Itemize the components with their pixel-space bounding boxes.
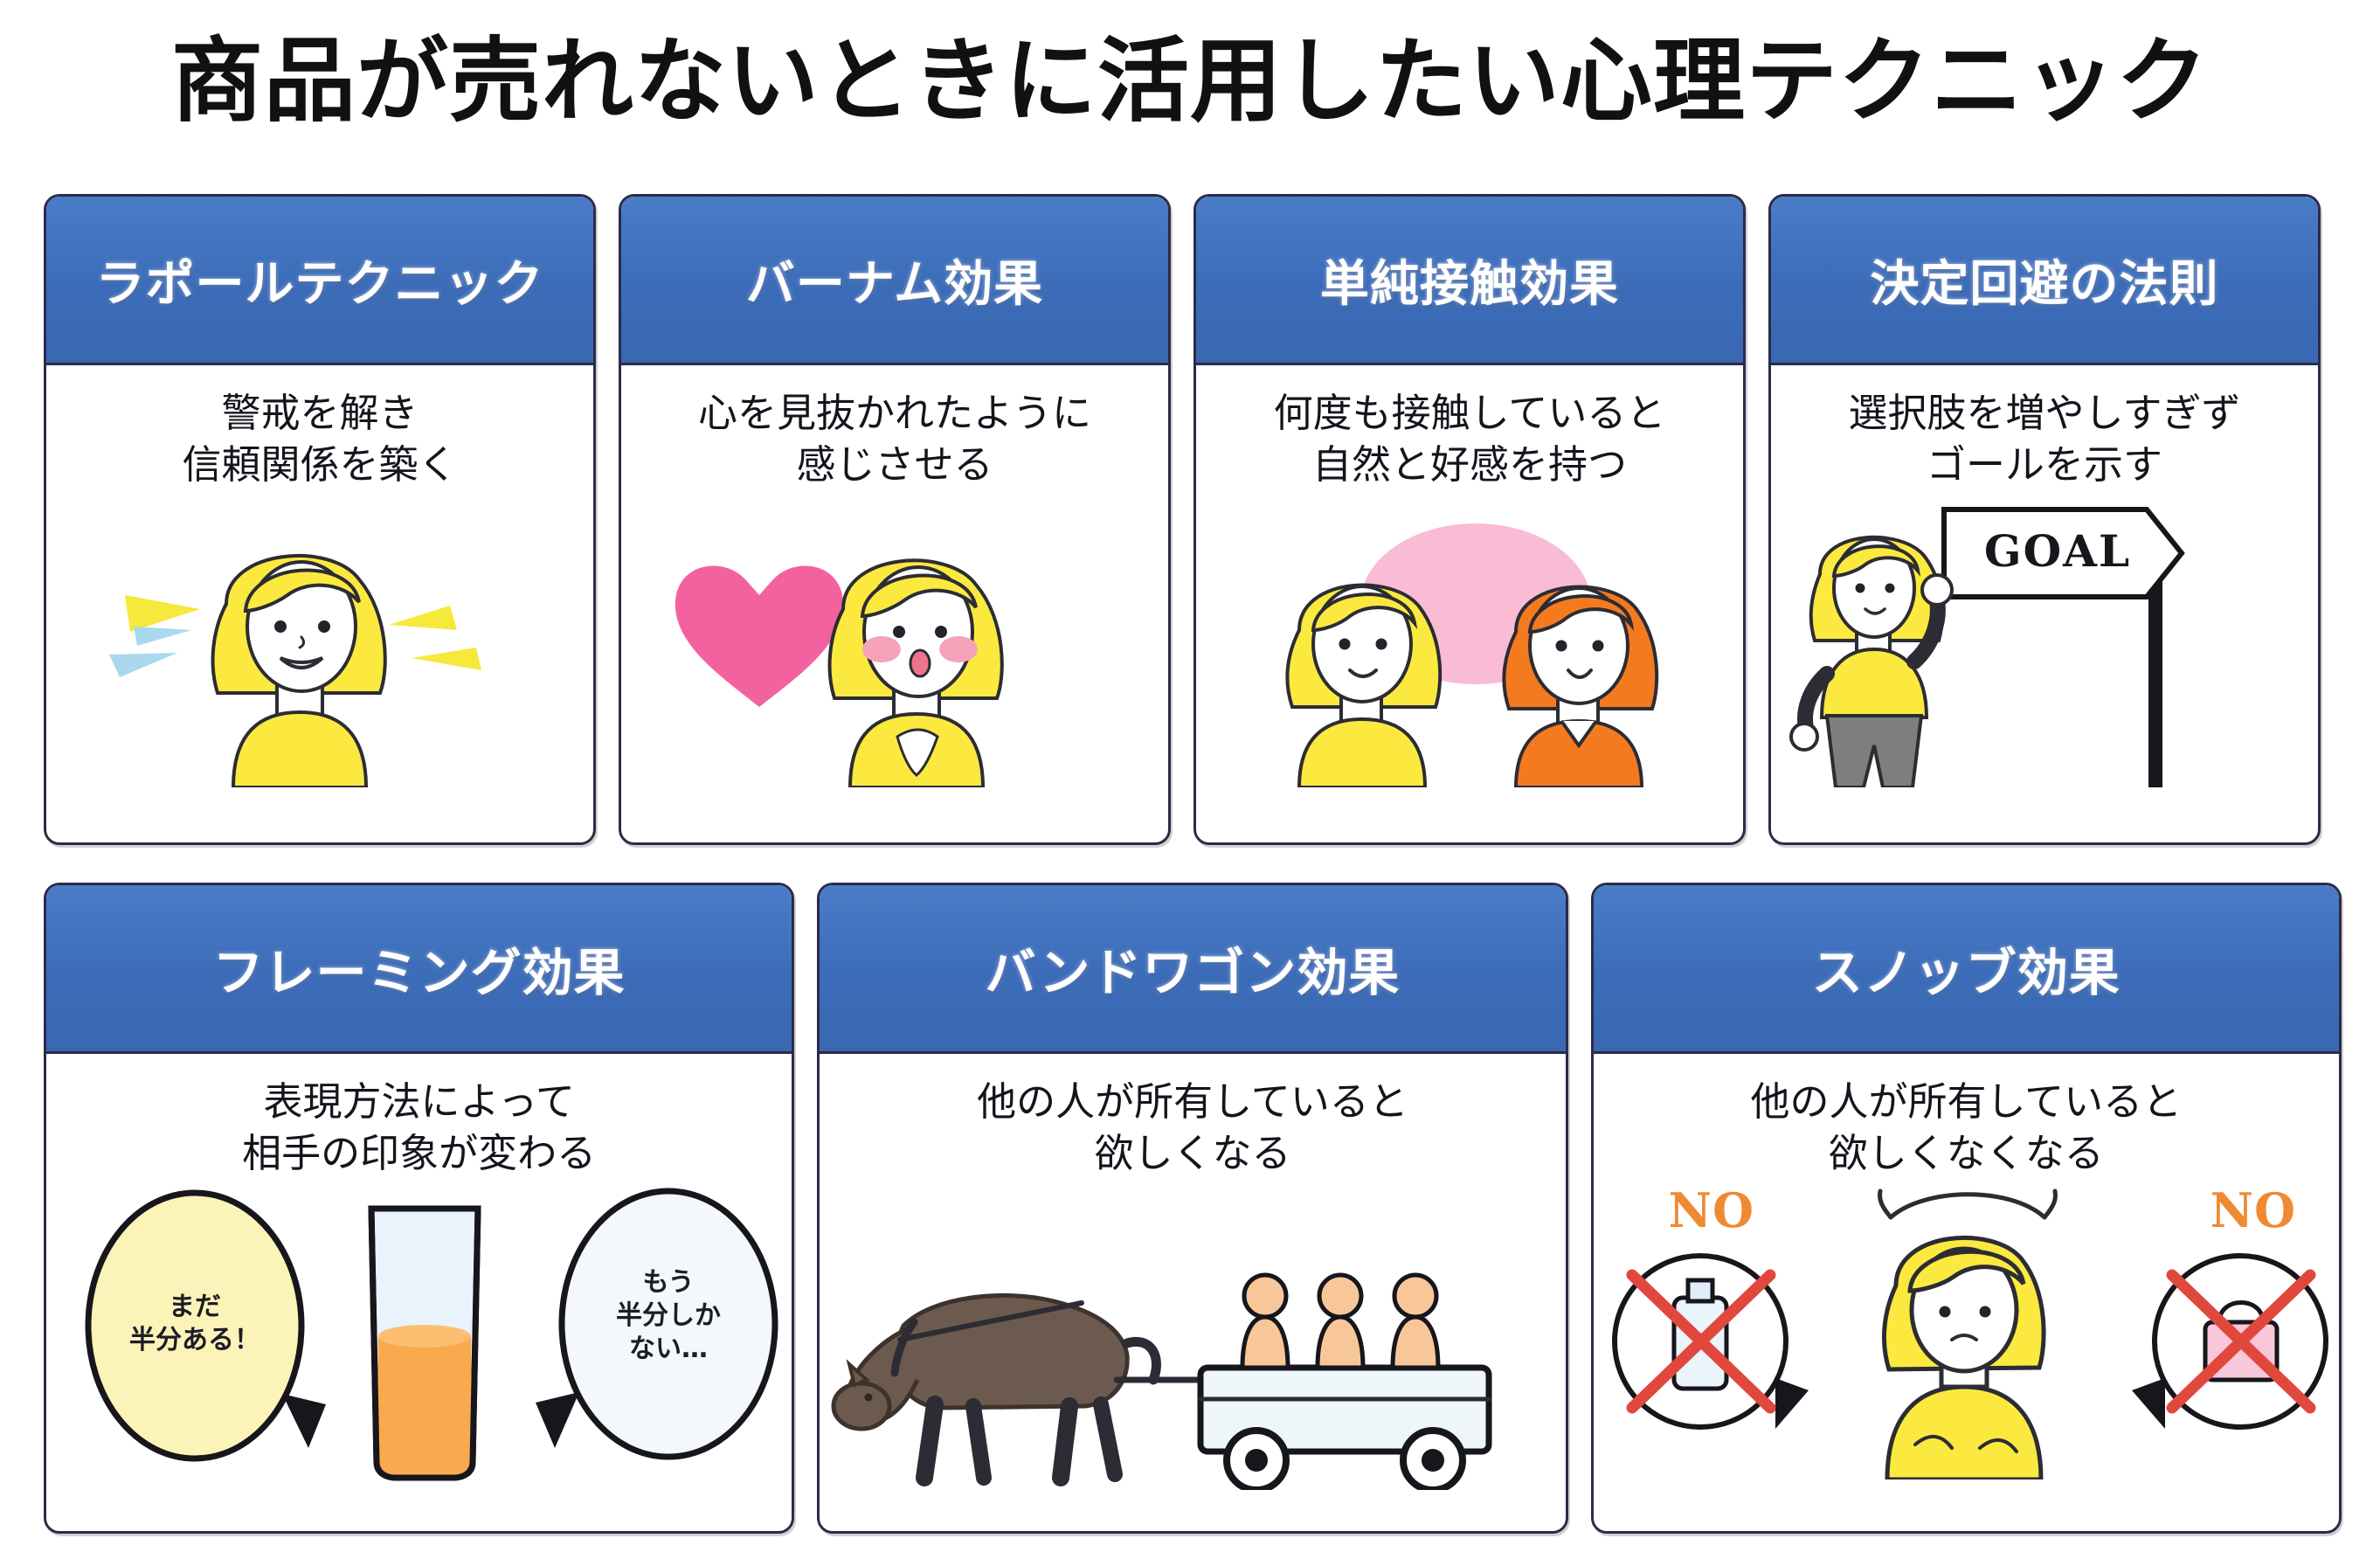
illustration-woman-pointing-at-goal-signpost: GOAL bbox=[1771, 490, 2318, 842]
card-header: 決定回避の法則 bbox=[1771, 197, 2318, 365]
illustration-half-full-glass-with-two-speech-bubbles: まだ 半分ある！ もう 半分しか ない… bbox=[46, 1179, 792, 1531]
card-description: 他の人が所有していると 欲しくなくなる bbox=[1750, 1077, 2182, 1179]
card-body: 選択肢を増やしすぎず ゴールを示す bbox=[1771, 365, 2318, 842]
card-barnum[interactable]: バーナム効果 心を見抜かれたように 感じさせる bbox=[619, 194, 1171, 845]
card-row-top: ラポールテクニック 警戒を解き 信頼関係を築く bbox=[44, 194, 2342, 845]
card-description: 警戒を解き 信頼関係を築く bbox=[182, 388, 457, 490]
card-description: 他の人が所有していると 欲しくなる bbox=[977, 1077, 1408, 1179]
card-rapport[interactable]: ラポールテクニック 警戒を解き 信頼関係を築く bbox=[44, 194, 596, 845]
illustration-horse-pulling-wagon-with-people bbox=[820, 1179, 1565, 1531]
card-body: 表現方法によって 相手の印象が変わる bbox=[46, 1054, 792, 1531]
infographic-page: 商品が売れないときに活用したい心理テクニック ラポールテクニック 警戒を解き 信… bbox=[0, 0, 2380, 1566]
card-header: スノッブ効果 bbox=[1594, 885, 2339, 1054]
card-header: ラポールテクニック bbox=[46, 197, 593, 365]
page-title: 商品が売れないときに活用したい心理テクニック bbox=[0, 7, 2380, 140]
card-title: バンドワゴン効果 bbox=[986, 932, 1401, 1005]
card-framing[interactable]: フレーミング効果 表現方法によって 相手の印象が変わる bbox=[44, 883, 794, 1534]
speech-bubble-yellow-text: まだ 半分ある！ bbox=[88, 1291, 301, 1357]
card-description: 表現方法によって 相手の印象が変わる bbox=[242, 1077, 596, 1179]
illustration-smiling-woman-with-sparkles bbox=[46, 490, 593, 842]
card-description: 何度も接触していると 自然と好感を持つ bbox=[1274, 388, 1666, 490]
card-title: フレーミング効果 bbox=[213, 932, 626, 1005]
card-body: 警戒を解き 信頼関係を築く bbox=[46, 365, 593, 842]
speech-bubble-white-text: もう 半分しか ない… bbox=[562, 1266, 775, 1365]
card-title: バーナム効果 bbox=[746, 245, 1043, 315]
card-header: 単純接触効果 bbox=[1196, 197, 1743, 365]
illustration-woman-rejecting-two-crossed-out-items: NO NO bbox=[1594, 1179, 2339, 1531]
card-header: フレーミング効果 bbox=[46, 885, 792, 1054]
no-label-left: NO bbox=[1669, 1182, 1754, 1238]
card-body: 心を見抜かれたように 感じさせる bbox=[621, 365, 1168, 842]
goal-sign-label: GOAL bbox=[1970, 525, 2145, 577]
card-snob[interactable]: スノッブ効果 他の人が所有していると 欲しくなくなる bbox=[1591, 883, 2342, 1534]
card-header: バンドワゴン効果 bbox=[820, 885, 1565, 1054]
card-description: 心を見抜かれたように 感じさせる bbox=[698, 388, 1091, 490]
no-label-right: NO bbox=[2210, 1182, 2296, 1238]
card-title: 単純接触効果 bbox=[1320, 245, 1619, 315]
card-description: 選択肢を増やしすぎず ゴールを示す bbox=[1848, 388, 2240, 490]
card-title: スノッブ効果 bbox=[1812, 932, 2121, 1005]
illustration-surprised-woman-with-heart bbox=[621, 490, 1168, 842]
card-title: ラポールテクニック bbox=[96, 245, 544, 315]
card-body: 他の人が所有していると 欲しくなる bbox=[820, 1054, 1565, 1531]
card-decision-avoidance[interactable]: 決定回避の法則 選択肢を増やしすぎず ゴールを示す bbox=[1768, 194, 2321, 845]
card-body: 何度も接触していると 自然と好感を持つ bbox=[1196, 365, 1743, 842]
illustration-two-people-side-by-side bbox=[1196, 490, 1743, 842]
card-mere-exposure[interactable]: 単純接触効果 何度も接触していると 自然と好感を持つ bbox=[1193, 194, 1746, 845]
card-row-bottom: フレーミング効果 表現方法によって 相手の印象が変わる bbox=[44, 883, 2342, 1534]
card-body: 他の人が所有していると 欲しくなくなる bbox=[1594, 1054, 2339, 1531]
card-title: 決定回避の法則 bbox=[1871, 245, 2219, 315]
card-bandwagon[interactable]: バンドワゴン効果 他の人が所有していると 欲しくなる bbox=[817, 883, 1567, 1534]
card-header: バーナム効果 bbox=[621, 197, 1168, 365]
